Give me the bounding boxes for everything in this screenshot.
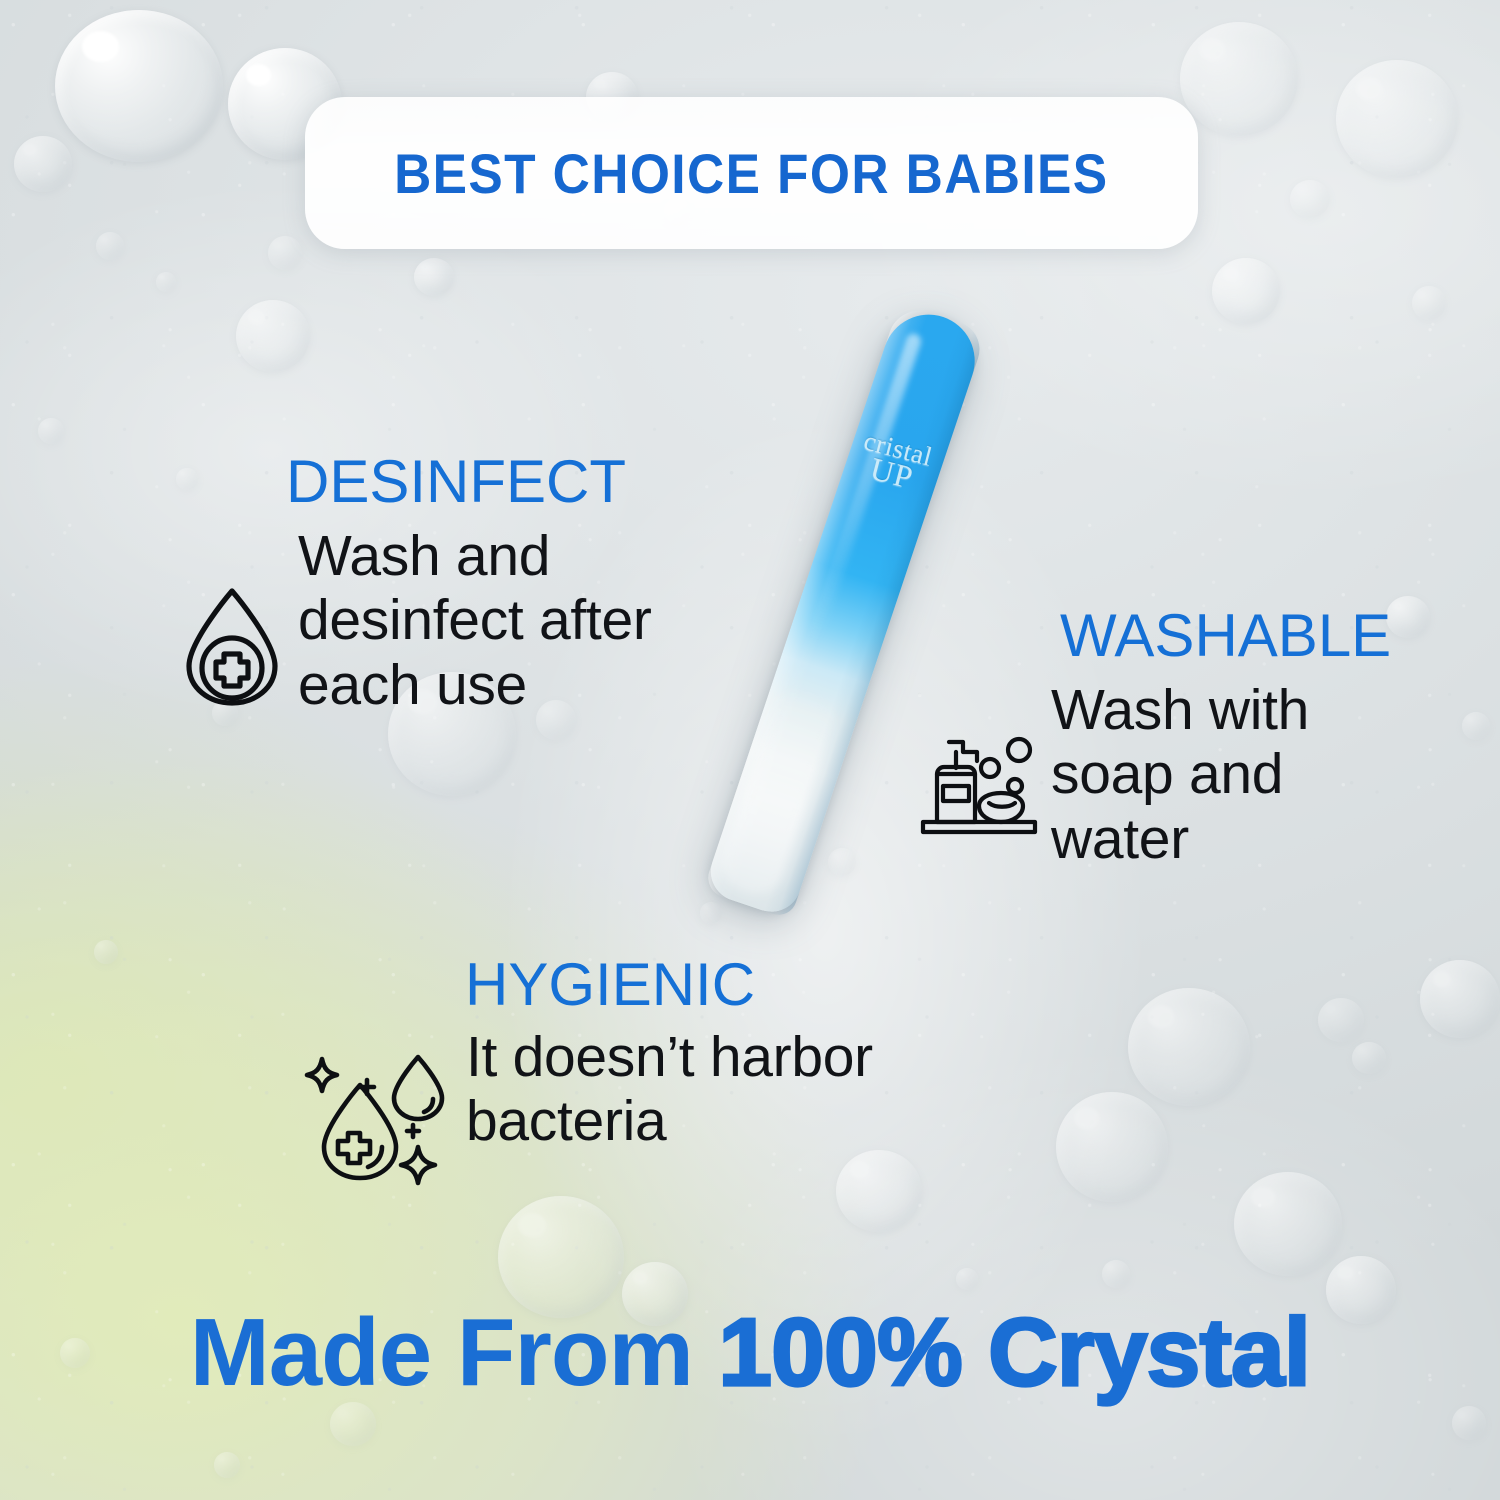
- tagline-emphasis: 100% Crystal: [719, 1299, 1311, 1406]
- feature-desinfect-heading: DESINFECT: [286, 452, 798, 512]
- feature-hygienic-heading: HYGIENIC: [465, 955, 1020, 1015]
- water-drop-cross-icon: [178, 584, 286, 715]
- product-infographic: cristal UP BEST CHOICE FOR BABIES DESINF…: [0, 0, 1500, 1500]
- feature-desinfect: DESINFECT Wash and desinfect after each …: [178, 452, 798, 717]
- feature-washable: WASHABLE: [915, 606, 1475, 871]
- headline-text: BEST CHOICE FOR BABIES: [394, 141, 1108, 206]
- headline-banner: BEST CHOICE FOR BABIES: [305, 97, 1198, 249]
- feature-washable-heading: WASHABLE: [1060, 606, 1475, 666]
- feature-washable-body: Wash with soap and water: [1051, 678, 1411, 871]
- feature-hygienic: HYGIENIC It doesn’t harbo: [300, 955, 1020, 1194]
- tagline-prefix: Made From: [190, 1299, 719, 1406]
- soap-dispenser-bubbles-icon: [915, 734, 1043, 851]
- feature-desinfect-body: Wash and desinfect after each use: [298, 524, 776, 717]
- sparkling-drop-cross-icon: [300, 1047, 460, 1194]
- feature-hygienic-body: It doesn’t harbor bacteria: [466, 1025, 1020, 1154]
- bottom-tagline: Made From 100% Crystal: [0, 1298, 1500, 1408]
